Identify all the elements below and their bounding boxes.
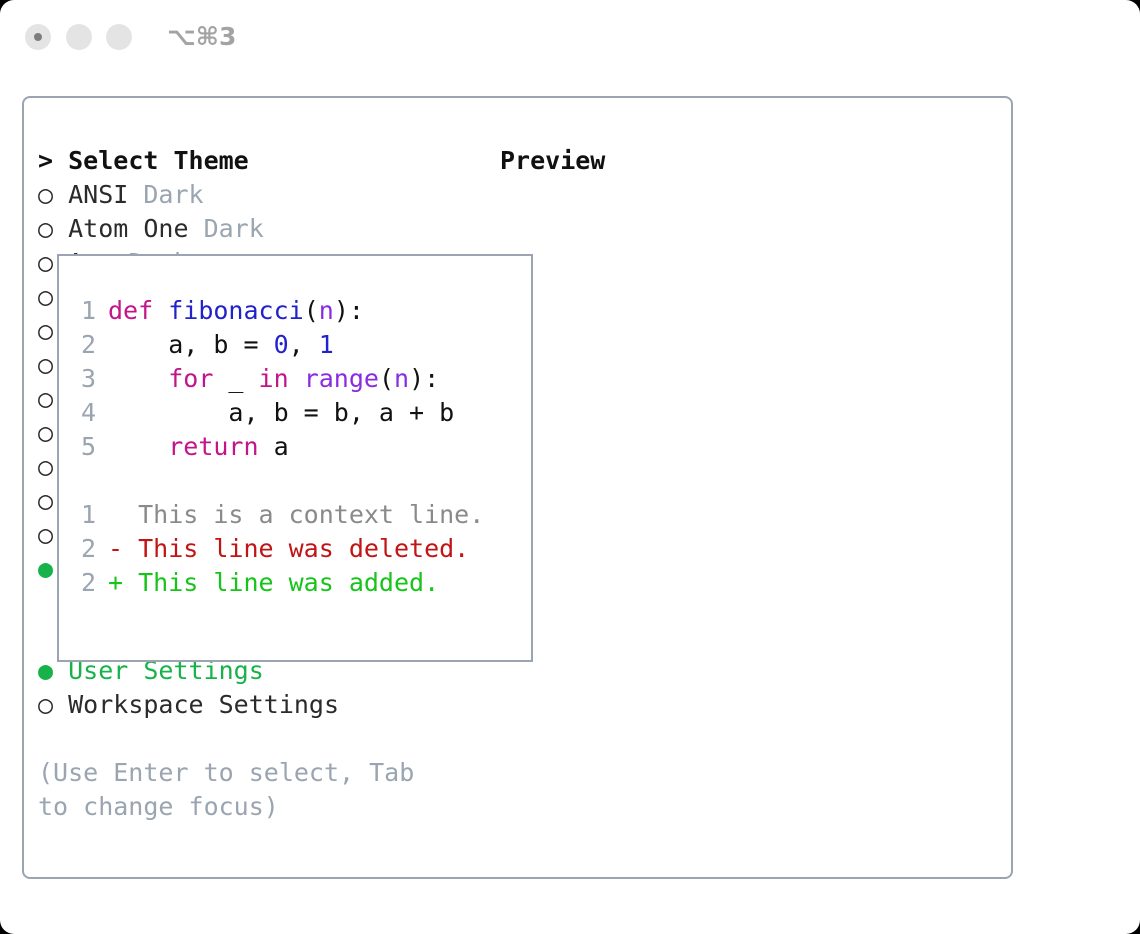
radio-unselected-icon: ○ <box>38 214 68 243</box>
option-label: Workspace Settings <box>68 690 339 719</box>
code-token: ( <box>304 296 319 325</box>
select-theme-heading-text: Select Theme <box>68 146 249 175</box>
code-token: a, b = b, a + b <box>108 398 454 427</box>
code-line: 1def fibonacci(n): <box>74 294 523 328</box>
diff-sample: 1 This is a context line.2- This line wa… <box>74 498 523 600</box>
option-label: ANSI <box>68 180 128 209</box>
code-token: for <box>168 364 213 393</box>
apply-to-option-1[interactable]: ○ Workspace Settings <box>38 688 488 722</box>
option-variant-tag: Dark <box>128 180 203 209</box>
app-window: ⌥⌘3 > Select Theme ○ ANSI Dark○ Atom One… <box>0 0 1140 934</box>
preview-heading: Preview <box>500 144 1000 178</box>
radio-unselected-icon: ○ <box>38 180 68 209</box>
code-line: 3 for _ in range(n): <box>74 362 523 396</box>
theme-option-0[interactable]: ○ ANSI Dark <box>38 178 488 212</box>
diff-line-text: + This line was added. <box>108 568 439 597</box>
keyboard-shortcut-label: ⌥⌘3 <box>167 22 236 51</box>
code-token: 0 <box>274 330 289 359</box>
code-token: 1 <box>319 330 334 359</box>
code-line: 4 a, b = b, a + b <box>74 396 523 430</box>
line-number: 1 <box>74 294 96 328</box>
preview-code-area: 1def fibonacci(n):2 a, b = 0, 13 for _ i… <box>74 294 523 600</box>
code-token: ( <box>379 364 394 393</box>
window-control-minimize-icon[interactable] <box>66 24 92 50</box>
apply-to-option-list: ● User Settings○ Workspace Settings <box>38 654 488 722</box>
theme-selector-panel: > Select Theme ○ ANSI Dark○ Atom One Dar… <box>22 96 1013 879</box>
diff-line-text: - This line was deleted. <box>108 534 469 563</box>
code-line: 2 a, b = 0, 1 <box>74 328 523 362</box>
code-token <box>289 364 304 393</box>
code-token: fibonacci <box>168 296 303 325</box>
preview-column: Preview <box>500 144 1000 178</box>
code-token <box>108 364 168 393</box>
diff-line: 2+ This line was added. <box>74 566 523 600</box>
line-number: 2 <box>74 328 96 362</box>
option-variant-tag: Dark <box>189 214 264 243</box>
code-token: n <box>319 296 334 325</box>
code-token: n <box>394 364 409 393</box>
code-line: 5 return a <box>74 430 523 464</box>
code-token: _ <box>213 364 258 393</box>
keyboard-hint-text: (Use Enter to select, Tab to change focu… <box>38 756 450 824</box>
code-token: return <box>168 432 258 461</box>
line-number: 4 <box>74 396 96 430</box>
line-number: 1 <box>74 498 96 532</box>
code-token: in <box>259 364 289 393</box>
diff-line: 1 This is a context line. <box>74 498 523 532</box>
title-bar: ⌥⌘3 <box>0 0 1140 78</box>
code-diff-separator <box>74 464 523 498</box>
code-token: , <box>289 330 319 359</box>
code-sample: 1def fibonacci(n):2 a, b = 0, 13 for _ i… <box>74 294 523 464</box>
line-number: 5 <box>74 430 96 464</box>
line-number: 2 <box>74 566 96 600</box>
window-control-maximize-icon[interactable] <box>106 24 132 50</box>
select-theme-heading: > Select Theme <box>38 144 488 178</box>
code-token: a, b = <box>108 330 274 359</box>
code-token: ): <box>334 296 364 325</box>
code-token: a <box>259 432 289 461</box>
select-theme-heading-prefix: > <box>38 146 68 175</box>
diff-line-text: This is a context line. <box>108 500 484 529</box>
code-token: range <box>304 364 379 393</box>
option-label: Atom One <box>68 214 188 243</box>
code-token: ): <box>409 364 439 393</box>
hint-spacer <box>38 722 488 756</box>
code-token <box>108 432 168 461</box>
theme-option-1[interactable]: ○ Atom One Dark <box>38 212 488 246</box>
radio-unselected-icon: ○ <box>38 690 68 719</box>
line-number: 2 <box>74 532 96 566</box>
window-control-close-icon[interactable] <box>25 24 51 50</box>
line-number: 3 <box>74 362 96 396</box>
preview-box: 1def fibonacci(n):2 a, b = 0, 13 for _ i… <box>57 254 533 662</box>
code-token: def <box>108 296 168 325</box>
diff-line: 2- This line was deleted. <box>74 532 523 566</box>
